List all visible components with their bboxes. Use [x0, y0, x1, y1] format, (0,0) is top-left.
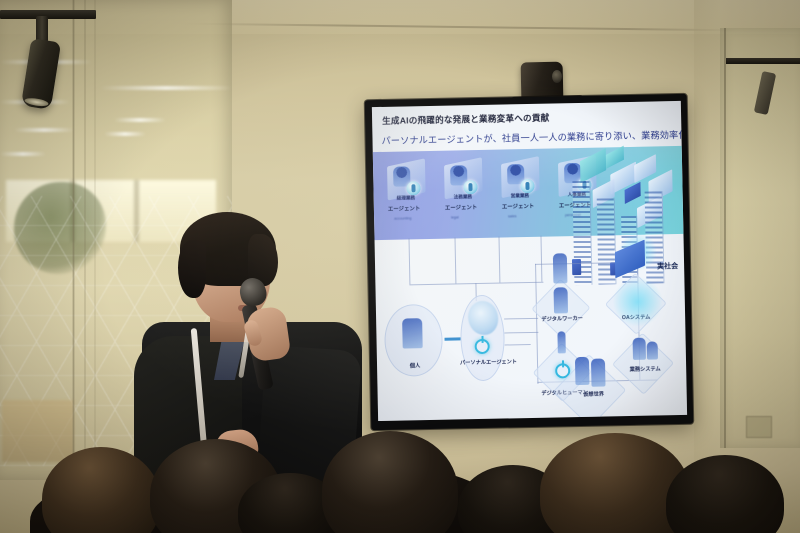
agent-card: 法務業務 エージェント legal: [442, 161, 489, 232]
agent-roman-label: legal: [451, 215, 497, 220]
light-track-rail: [726, 58, 800, 64]
business-system-label: 業務システム: [621, 365, 669, 373]
slide-title: 生成AIの飛躍的な発展と業務変革への貢献: [382, 112, 550, 127]
agent-suffix-label: エージェント: [502, 202, 552, 211]
person-icon: [647, 341, 658, 359]
audience-head: [322, 431, 458, 533]
audience-head: [42, 447, 160, 533]
person-icon: [402, 318, 423, 348]
person-icon: [575, 357, 590, 385]
agent-card: 経理業務 エージェント accounting: [385, 162, 432, 233]
wall-pillar: [694, 0, 720, 470]
agent-roman-label: sales: [508, 213, 554, 218]
agent-suffix-label: エージェント: [445, 203, 495, 212]
digital-worker-label: デジタルワーカー: [534, 315, 590, 323]
presentation-display[interactable]: 生成AIの飛躍的な発展と業務変革への貢献 パーソナルエージェントが、社員一人一人…: [365, 94, 694, 430]
spotlight-icon: [754, 71, 776, 115]
person-icon: [554, 287, 569, 313]
audience-row: [0, 403, 800, 533]
virtual-world-label: 仮想世界: [572, 390, 616, 398]
presentation-photo-scene: 生成AIの飛躍的な発展と業務変革への貢献 パーソナルエージェントが、社員一人一人…: [0, 0, 800, 533]
document-icon: [615, 240, 645, 279]
slide-canvas: 生成AIの飛躍的な発展と業務変革への貢献 パーソナルエージェントが、社員一人一人…: [372, 101, 687, 421]
agent-role-label: 法務業務: [454, 194, 500, 201]
slide-diagram: 個人 パーソナルエージェント デジタ: [375, 237, 688, 421]
agent-blob-icon: [468, 301, 499, 336]
person-icon: [553, 253, 568, 283]
speaker-hair: [178, 240, 206, 298]
light-track-rail: [0, 10, 96, 19]
person-icon: [557, 331, 565, 353]
camera-lens-icon: [552, 70, 562, 83]
agent-suffix-label: エージェント: [388, 204, 438, 213]
person-icon: [591, 358, 606, 386]
personal-agent-label: パーソナルエージェント: [460, 358, 508, 366]
person-icon: [633, 338, 646, 360]
arrow-icon: [445, 337, 461, 340]
agent-role-label: 営業業務: [511, 192, 557, 199]
individual-label: 個人: [401, 362, 429, 370]
agent-role-label: 経理業務: [397, 195, 443, 202]
agent-roman-label: accounting: [394, 216, 440, 221]
slide-subtitle: パーソナルエージェントが、社員一人一人の業務に寄り添い、業務効率化や高度化を実現…: [381, 125, 687, 147]
audience-head: [666, 455, 784, 533]
agent-card: 営業業務 エージェント sales: [499, 160, 546, 231]
glass-partition-right: [720, 28, 800, 448]
